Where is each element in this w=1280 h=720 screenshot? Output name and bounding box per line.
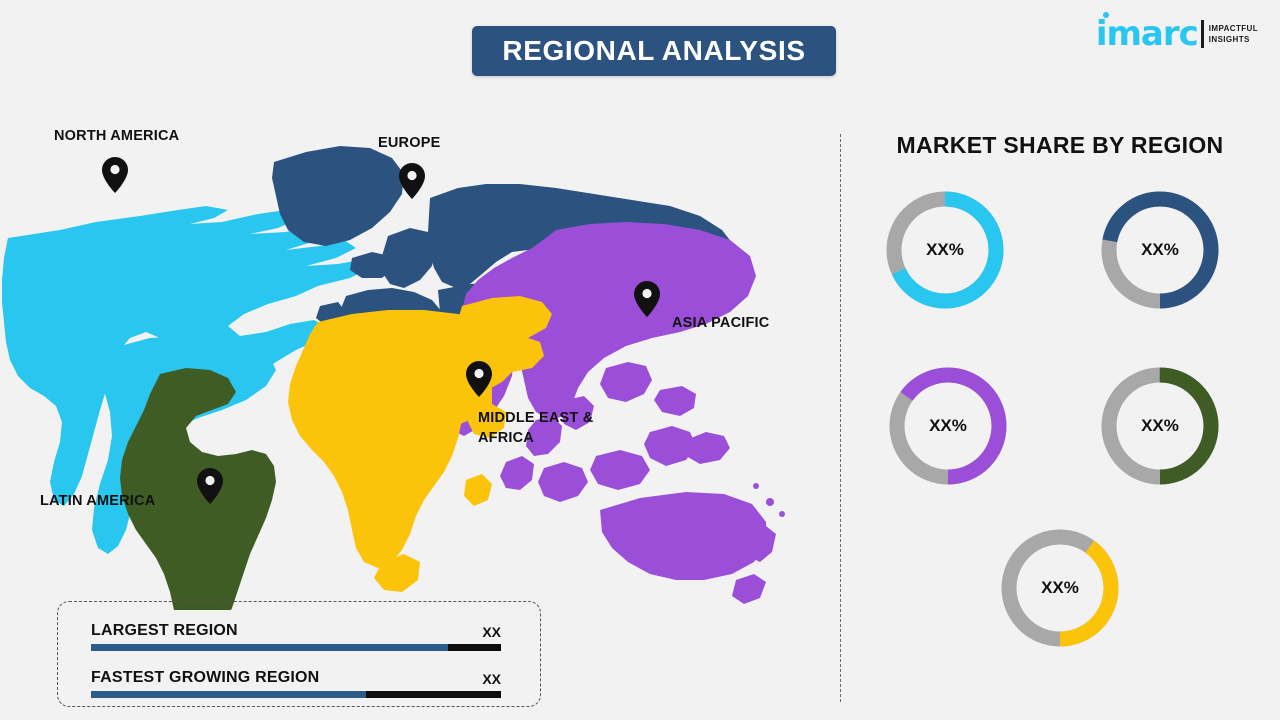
logo-tagline-line1: IMPACTFUL (1209, 23, 1258, 34)
legend-label-fastest-growing-region: FASTEST GROWING REGION (91, 669, 319, 687)
legend-row-largest-region: LARGEST REGION XX (91, 622, 501, 651)
legend-label-largest-region: LARGEST REGION (91, 622, 238, 640)
map-pin-asia-pacific (634, 281, 660, 317)
region-label-europe: EUROPE (378, 133, 440, 153)
map-pin-europe (399, 163, 425, 199)
legend-value-largest-region: XX (482, 624, 501, 640)
logo-wordmark: imarc (1096, 17, 1198, 51)
map-pin-latin-america (197, 468, 223, 504)
logo-tagline: IMPACTFUL INSIGHTS (1209, 23, 1258, 45)
region-label-asia-pacific: ASIA PACIFIC (672, 313, 769, 333)
donut-label-north-america: XX% (885, 190, 1005, 310)
map-pin-north-america (102, 157, 128, 193)
infographic-canvas: REGIONAL ANALYSIS imarc IMPACTFUL INSIGH… (0, 0, 1280, 720)
donut-chart-latin-america: XX% (1100, 366, 1220, 486)
legend-box: LARGEST REGION XX FASTEST GROWING REGION… (57, 601, 541, 707)
page-title-banner: REGIONAL ANALYSIS (472, 26, 836, 76)
logo-dot-icon (1103, 12, 1109, 18)
legend-bar-largest-region (91, 644, 501, 651)
logo-wordmark-text: imarc (1096, 14, 1198, 54)
imarc-logo: imarc IMPACTFUL INSIGHTS (1096, 12, 1258, 56)
donut-chart-europe: XX% (1100, 190, 1220, 310)
section-divider (840, 134, 841, 702)
donut-chart-north-america: XX% (885, 190, 1005, 310)
donut-label-latin-america: XX% (1100, 366, 1220, 486)
donut-chart-asia-pacific: XX% (888, 366, 1008, 486)
region-label-north-america: NORTH AMERICA (54, 126, 179, 146)
legend-bar-fill-fastest-growing-region (91, 691, 366, 698)
page-title: REGIONAL ANALYSIS (502, 35, 805, 67)
donut-label-middle-east-africa: XX% (1000, 528, 1120, 648)
legend-value-fastest-growing-region: XX (482, 671, 501, 687)
logo-tagline-line2: INSIGHTS (1209, 34, 1258, 45)
region-label-middle-east-africa: MIDDLE EAST & AFRICA (478, 408, 593, 448)
legend-row-fastest-growing-region: FASTEST GROWING REGION XX (91, 669, 501, 698)
legend-bar-fastest-growing-region (91, 691, 501, 698)
region-label-latin-america: LATIN AMERICA (40, 491, 155, 511)
donut-chart-middle-east-africa: XX% (1000, 528, 1120, 648)
panel-title: MARKET SHARE BY REGION (840, 132, 1280, 159)
map-pin-middle-east-africa (466, 361, 492, 397)
donut-label-europe: XX% (1100, 190, 1220, 310)
legend-bar-fill-largest-region (91, 644, 448, 651)
donut-label-asia-pacific: XX% (888, 366, 1008, 486)
logo-divider (1201, 20, 1204, 48)
